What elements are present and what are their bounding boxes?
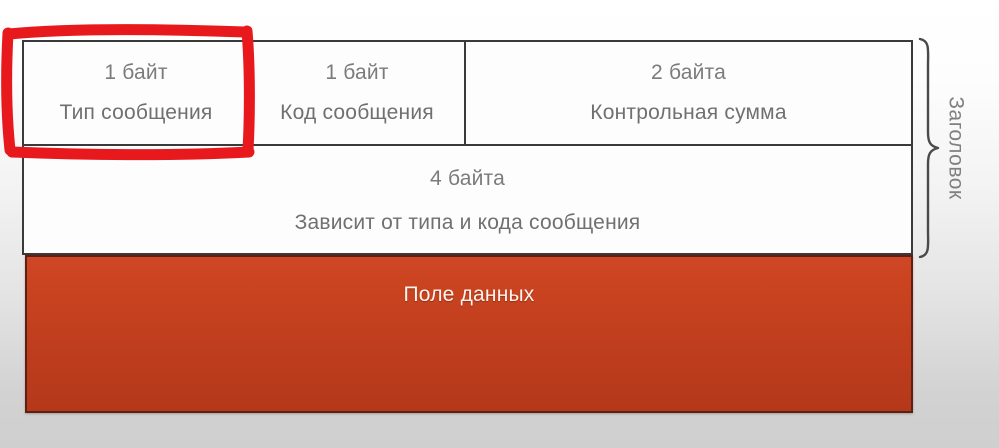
header-section-label-text: Заголовок	[944, 96, 968, 199]
field-name-label: Тип сообщения	[60, 101, 213, 125]
diagram-canvas: 1 байт Тип сообщения 1 байт Код сообщени…	[0, 0, 999, 448]
data-field-label: Поле данных	[404, 283, 535, 307]
field-cell-message-type: 1 байт Тип сообщения	[24, 42, 248, 144]
field-name-label: Контрольная сумма	[590, 101, 786, 125]
field-cell-checksum: 2 байта Контрольная сумма	[466, 42, 911, 144]
field-size-label: 1 байт	[325, 61, 388, 85]
data-field-block: Поле данных	[25, 255, 913, 413]
field-size-label: 4 байта	[430, 167, 505, 191]
field-size-label: 2 байта	[651, 61, 726, 85]
header-section-label: Заголовок	[936, 36, 976, 259]
field-name-label: Зависит от типа и кода сообщения	[295, 211, 641, 235]
field-name-label: Код сообщения	[280, 101, 434, 125]
field-cell-message-code: 1 байт Код сообщения	[248, 42, 466, 144]
packet-header-table: 1 байт Тип сообщения 1 байт Код сообщени…	[22, 40, 913, 255]
field-size-label: 1 байт	[104, 61, 167, 85]
field-cell-variable-part: 4 байта Зависит от типа и кода сообщения	[24, 148, 911, 253]
header-row-fields: 1 байт Тип сообщения 1 байт Код сообщени…	[24, 42, 911, 146]
